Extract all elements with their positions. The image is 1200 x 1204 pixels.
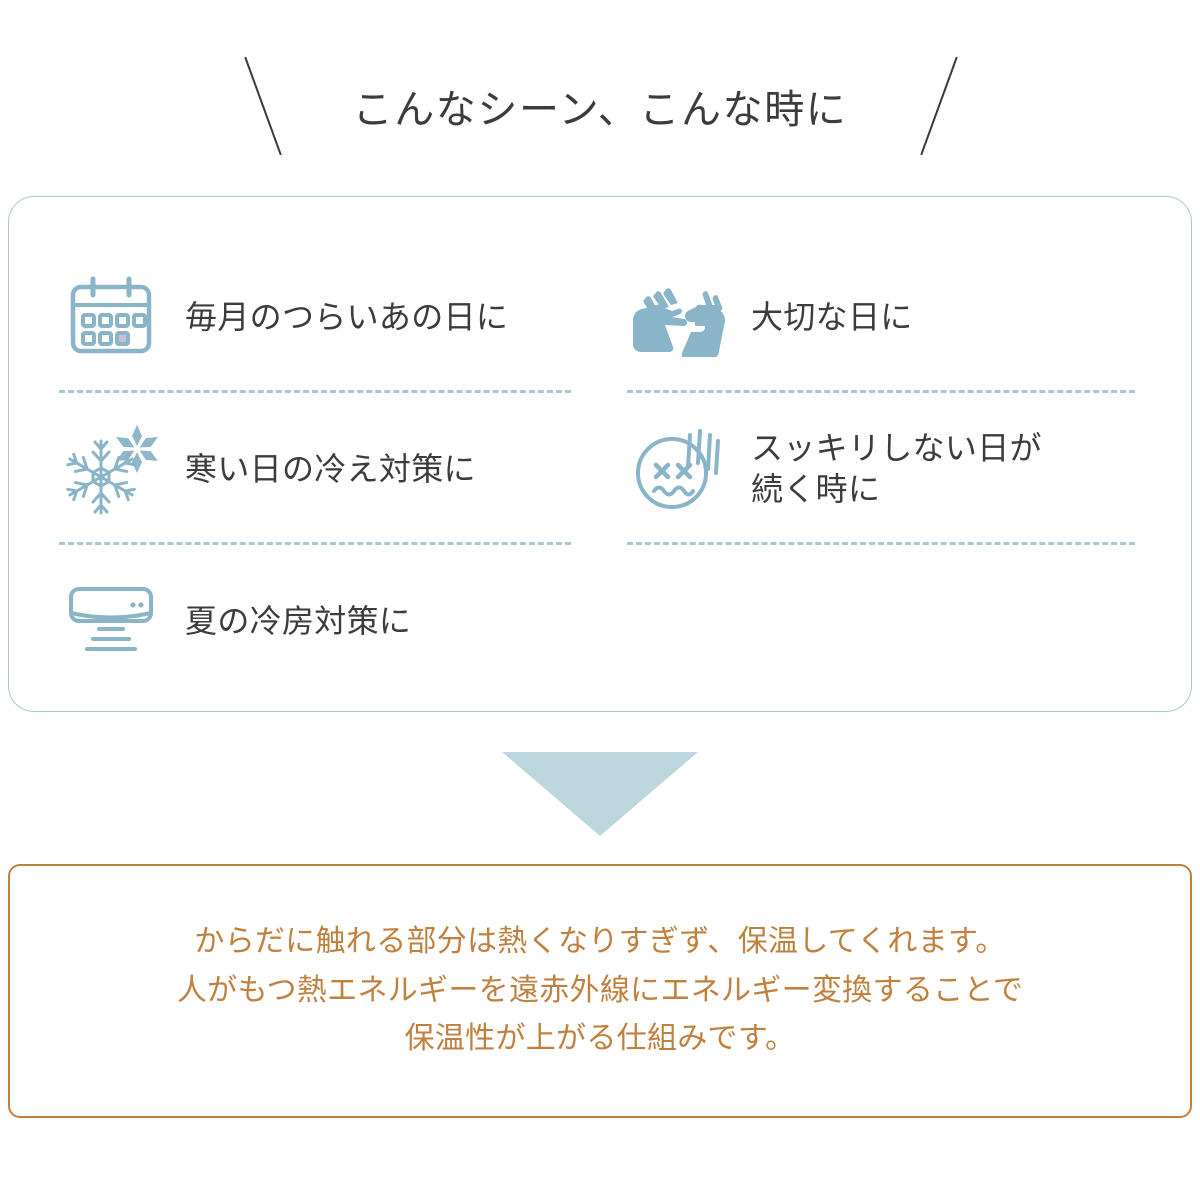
list-item-label: 毎月のつらいあの日に — [185, 297, 508, 338]
down-triangle-arrow-icon — [502, 752, 698, 836]
list-item-label: 寒い日の冷え対策に — [185, 449, 476, 490]
list-item-label: スッキリしない日が 続く時に — [751, 428, 1042, 510]
list-item-label: 夏の冷房対策に — [185, 601, 411, 642]
list-item[interactable]: 夏の冷房対策に — [55, 545, 595, 697]
list-item-label-line1: 寒い日の冷え対策に — [185, 451, 476, 487]
distressed-face-icon — [623, 421, 735, 517]
list-item-label-line1: 大切な日に — [751, 299, 913, 335]
diagonal-slash-right-icon — [905, 54, 971, 158]
calendar-icon — [55, 269, 167, 365]
scene-card: 毎月のつらいあの日に — [8, 196, 1192, 712]
note-line-2: 人がもつ熱エネルギーを遠赤外線にエネルギー変換することで — [177, 967, 1023, 1016]
note-line-3: 保温性が上がる仕組みです。 — [405, 1015, 796, 1064]
note-box: からだに触れる部分は熱くなりすぎず、保温してくれます。 人がもつ熱エネルギーを遠… — [8, 864, 1192, 1118]
list-item[interactable]: 毎月のつらいあの日に — [55, 241, 595, 393]
list-item-label-line1: 夏の冷房対策に — [185, 603, 411, 639]
list-item-label: 大切な日に — [751, 297, 913, 338]
pinky-promise-hands-icon — [623, 269, 735, 365]
scene-grid: 毎月のつらいあの日に — [55, 241, 1147, 697]
snowflake-icon — [55, 421, 167, 517]
diagonal-slash-left-icon — [229, 54, 295, 158]
air-conditioner-icon — [55, 573, 167, 669]
list-item-label-line1: スッキリしない日が — [751, 430, 1042, 466]
list-item-label-line2: 続く時に — [751, 469, 1042, 510]
list-item-label-line1: 毎月のつらいあの日に — [185, 299, 508, 335]
page-root: こんなシーン、こんな時に — [0, 0, 1200, 1204]
section-heading: こんなシーン、こんな時に — [0, 52, 1200, 160]
note-line-1: からだに触れる部分は熱くなりすぎず、保温してくれます。 — [194, 918, 1005, 967]
list-item[interactable]: 大切な日に — [607, 241, 1147, 393]
page-title: こんなシーン、こんな時に — [295, 77, 906, 135]
list-item[interactable]: 寒い日の冷え対策に — [55, 393, 595, 545]
list-item-empty — [607, 545, 1147, 697]
list-item[interactable]: スッキリしない日が 続く時に — [607, 393, 1147, 545]
